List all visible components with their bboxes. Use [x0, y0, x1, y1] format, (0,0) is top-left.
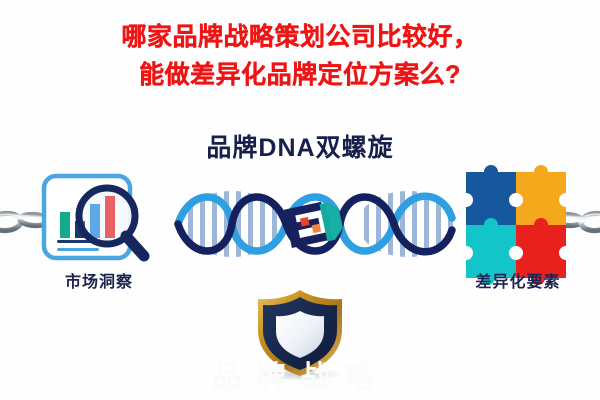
brand-diamond-logo-icon — [284, 199, 345, 249]
caption-differentiation: 差异化要素 — [443, 268, 593, 292]
chart-bar-1 — [60, 212, 70, 238]
caption-market-insight: 市场洞察 — [24, 268, 174, 292]
puzzle-piece-top-left — [466, 165, 516, 232]
headline: 哪家品牌战略策划公司比较好， 能做差异化品牌定位方案么? — [0, 18, 600, 94]
chain-right — [499, 212, 600, 231]
chain-left — [0, 212, 103, 231]
puzzle-four-pieces-icon — [466, 165, 566, 285]
dna-strand-dark — [178, 197, 452, 252]
dna-double-helix-icon — [178, 188, 458, 262]
chart-bar-3 — [90, 204, 100, 238]
subtitle: 品牌DNA双螺旋 — [0, 128, 600, 164]
magnifier-lens — [79, 188, 135, 244]
magnifier-handle — [126, 236, 144, 256]
poster-canvas: 哪家品牌战略策划公司比较好， 能做差异化品牌定位方案么? 品牌DNA双螺旋 — [0, 0, 600, 400]
chart-bar-4 — [105, 196, 115, 238]
puzzle-piece-top-right — [516, 165, 566, 232]
watermark: 品牌战略 — [0, 352, 600, 396]
shield-inner — [276, 311, 324, 358]
market-research-chart-magnifier-icon — [44, 176, 144, 258]
chart-bar-2 — [75, 221, 85, 238]
headline-line-2: 能做差异化品牌定位方案么? — [0, 56, 600, 94]
chart-frame — [44, 176, 130, 258]
headline-line-1: 哪家品牌战略策划公司比较好， — [0, 18, 600, 56]
dna-strand-light — [178, 196, 452, 251]
